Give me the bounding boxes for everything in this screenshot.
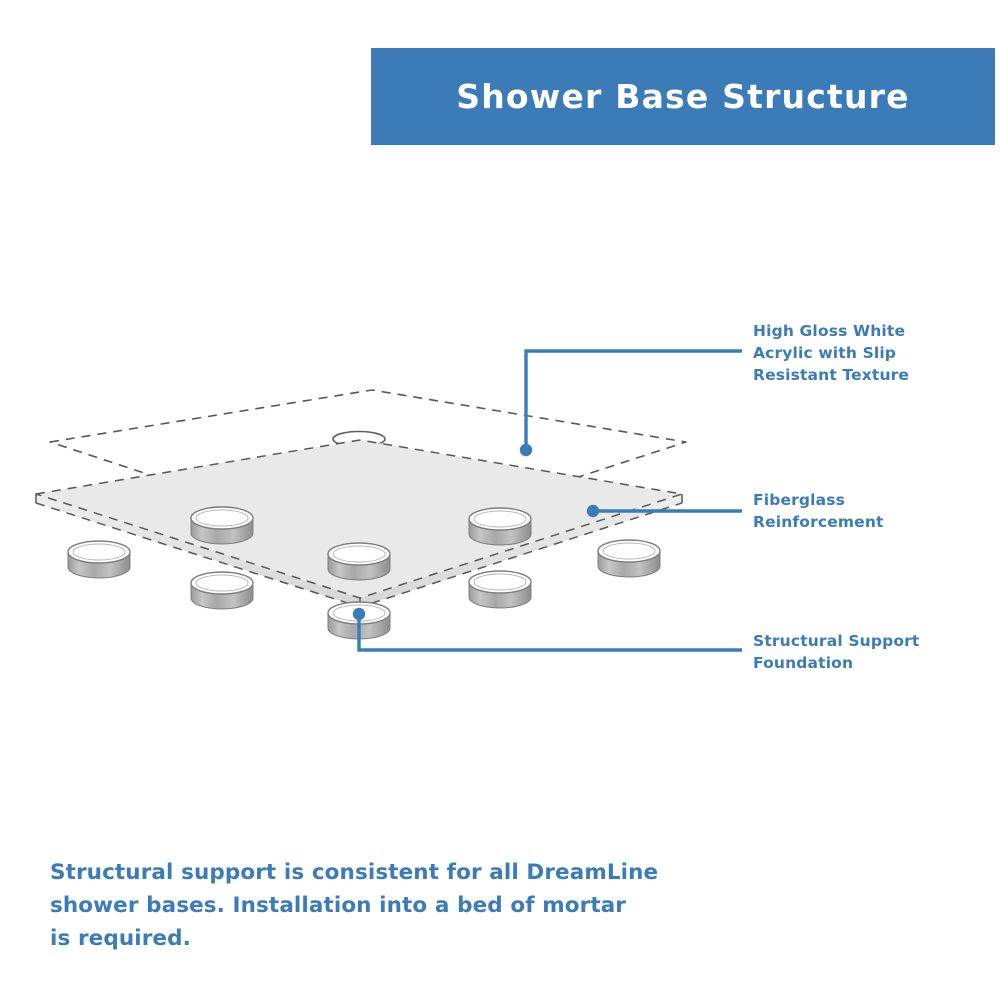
diagram-page: Shower Base Structure (0, 0, 1000, 1000)
leader-dot-acrylic (520, 444, 532, 456)
callout-acrylic-line3: Resistant Texture (753, 364, 953, 386)
callout-acrylic-line1: High Gloss White (753, 320, 953, 342)
callout-structural-support: Structural Support Foundation (753, 630, 953, 674)
callout-fiberglass: Fiberglass Reinforcement (753, 489, 953, 533)
support-ring (469, 571, 531, 608)
callout-fiberglass-line2: Reinforcement (753, 511, 953, 533)
support-ring (191, 572, 253, 609)
leader-dot-fiberglass (587, 505, 599, 517)
footer-note: Structural support is consistent for all… (50, 857, 690, 956)
support-ring (68, 541, 130, 578)
leader-line-acrylic (526, 351, 742, 450)
fiberglass-slab (36, 440, 682, 607)
callout-support-line1: Structural Support (753, 630, 953, 652)
leader-line-support (359, 614, 742, 650)
footer-note-line3: is required. (50, 923, 690, 956)
callout-fiberglass-line1: Fiberglass (753, 489, 953, 511)
support-ring (328, 543, 390, 580)
support-ring (191, 507, 253, 544)
support-ring (469, 508, 531, 545)
callout-acrylic: High Gloss White Acrylic with Slip Resis… (753, 320, 953, 386)
footer-note-line1: Structural support is consistent for all… (50, 857, 690, 890)
footer-note-line2: shower bases. Installation into a bed of… (50, 890, 690, 923)
callout-support-line2: Foundation (753, 652, 953, 674)
leader-dot-support (353, 608, 365, 620)
support-ring (598, 540, 660, 577)
callout-acrylic-line2: Acrylic with Slip (753, 342, 953, 364)
